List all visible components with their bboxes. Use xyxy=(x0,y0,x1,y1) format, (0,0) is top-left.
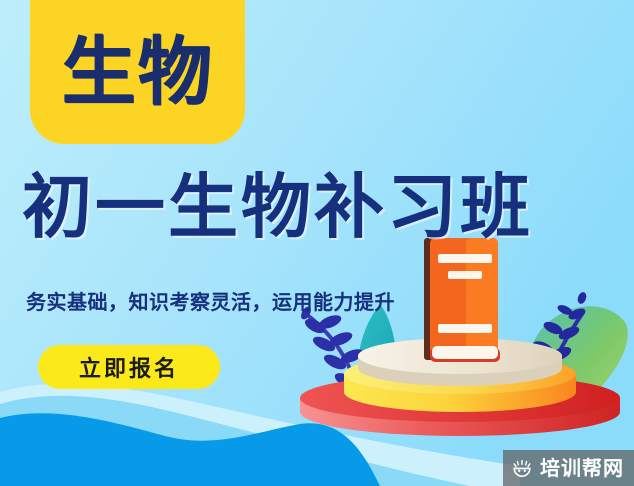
subject-badge: 生物 xyxy=(30,0,245,144)
page-title: 初一生物补习班 xyxy=(22,172,533,243)
sun-face-icon xyxy=(511,457,533,479)
enroll-now-button[interactable]: 立即报名 xyxy=(38,345,220,389)
subject-badge-label: 生物 xyxy=(62,35,214,109)
illustration xyxy=(282,240,634,440)
open-book-icon xyxy=(424,238,500,362)
subtitle-text: 务实基础，知识考察灵活，运用能力提升 xyxy=(26,286,395,315)
enroll-now-label: 立即报名 xyxy=(79,351,179,383)
course-promo-banner: 生物 初一生物补习班 务实基础，知识考察灵活，运用能力提升 立即报名 xyxy=(0,0,634,486)
watermark: 培训帮网 xyxy=(503,450,634,486)
watermark-label: 培训帮网 xyxy=(540,458,624,478)
